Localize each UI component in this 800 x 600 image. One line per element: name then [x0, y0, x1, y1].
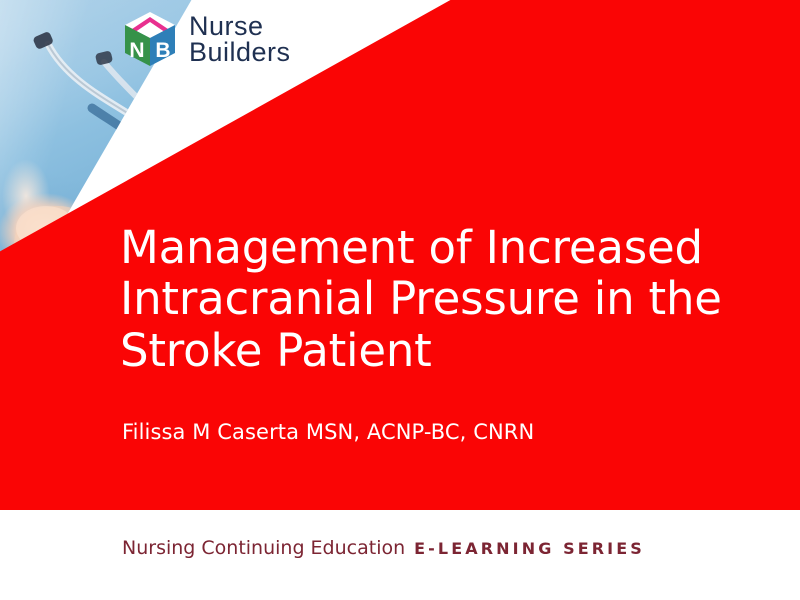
svg-text:N: N — [129, 39, 144, 62]
svg-text:B: B — [155, 39, 170, 62]
brand-wordmark: Nurse Builders — [189, 13, 291, 66]
nurse-builders-cube-icon: N B — [122, 10, 178, 68]
footer-series-text: E-LEARNING SERIES — [414, 539, 645, 558]
slide-footer: Nursing Continuing Education E-LEARNING … — [122, 537, 645, 559]
title-slide: N B Nurse Builders Management of Increas… — [0, 0, 800, 600]
brand-logo: N B Nurse Builders — [122, 10, 291, 68]
brand-line-2: Builders — [189, 39, 291, 65]
footer-lead-text: Nursing Continuing Education — [122, 537, 405, 559]
presenter-name: Filissa M Caserta MSN, ACNP-BC, CNRN — [122, 420, 534, 444]
slide-title: Management of Increased Intracranial Pre… — [120, 222, 745, 376]
brand-line-1: Nurse — [189, 13, 291, 39]
